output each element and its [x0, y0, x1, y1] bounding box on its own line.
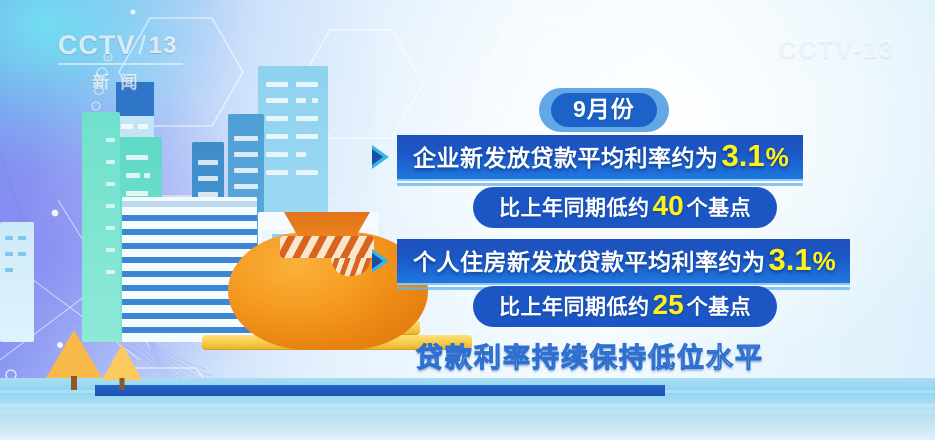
arrow-right-icon: [372, 143, 398, 171]
stat-bar-enterprise: 企业新发放贷款平均利率约为 3.1 %: [397, 135, 803, 179]
cctv-divider: [58, 63, 183, 65]
delta-prefix-enterprise: 比上年同期低约: [499, 196, 650, 221]
stat-row-housing-loan-rate: 个人住房新发放贷款平均利率约为 3.1 %: [372, 239, 850, 283]
tree-small: [102, 342, 142, 390]
stat-bar-housing: 个人住房新发放贷款平均利率约为 3.1 %: [397, 239, 850, 283]
delta-value-enterprise: 40: [653, 192, 684, 220]
stat-unit-housing: %: [813, 248, 836, 274]
cctv-channel-logo: CCTV / 13 新闻: [58, 30, 183, 82]
cctv-channel-sub: 新闻: [58, 68, 183, 93]
stat-label-housing: 个人住房新发放贷款平均利率约为: [413, 248, 766, 277]
stat-value-housing: 3.1: [769, 244, 812, 275]
month-badge: 9月份: [539, 88, 669, 132]
cctv-channel-number: 13: [149, 34, 178, 58]
broadcast-graphic-frame: CCTV / 13 新闻 CCTV-13 9月份 企业新发放贷款平均利率约为 3…: [0, 0, 935, 440]
building-teal: [82, 112, 120, 342]
stat-pill-housing-delta: 比上年同期低约 25 个基点: [473, 286, 777, 327]
delta-value-housing: 25: [653, 291, 684, 319]
building-pale-left: [0, 222, 34, 342]
delta-suffix-housing: 个基点: [687, 295, 752, 320]
delta-suffix-enterprise: 个基点: [687, 196, 752, 221]
stat-label-enterprise: 企业新发放贷款平均利率约为: [413, 144, 719, 173]
city-illustration: [0, 60, 480, 390]
month-badge-label: 9月份: [551, 93, 657, 127]
water-shadow: [0, 414, 935, 440]
money-bag-ribbon: [280, 236, 374, 258]
coin-stack-1: [202, 334, 262, 350]
arrow-right-icon: [372, 247, 398, 275]
stat-row-enterprise-loan-rate: 企业新发放贷款平均利率约为 3.1 %: [372, 135, 803, 179]
stat-unit-enterprise: %: [766, 144, 789, 170]
tree-large: [46, 328, 102, 390]
water-line-2: [0, 404, 935, 407]
stat-value-enterprise: 3.1: [722, 140, 765, 171]
delta-prefix-housing: 比上年同期低约: [499, 295, 650, 320]
cctv-wordmark: CCTV: [58, 32, 136, 59]
tagline: 贷款利率持续保持低位水平: [416, 336, 764, 375]
stat-pill-enterprise-delta: 比上年同期低约 40 个基点: [473, 187, 777, 228]
